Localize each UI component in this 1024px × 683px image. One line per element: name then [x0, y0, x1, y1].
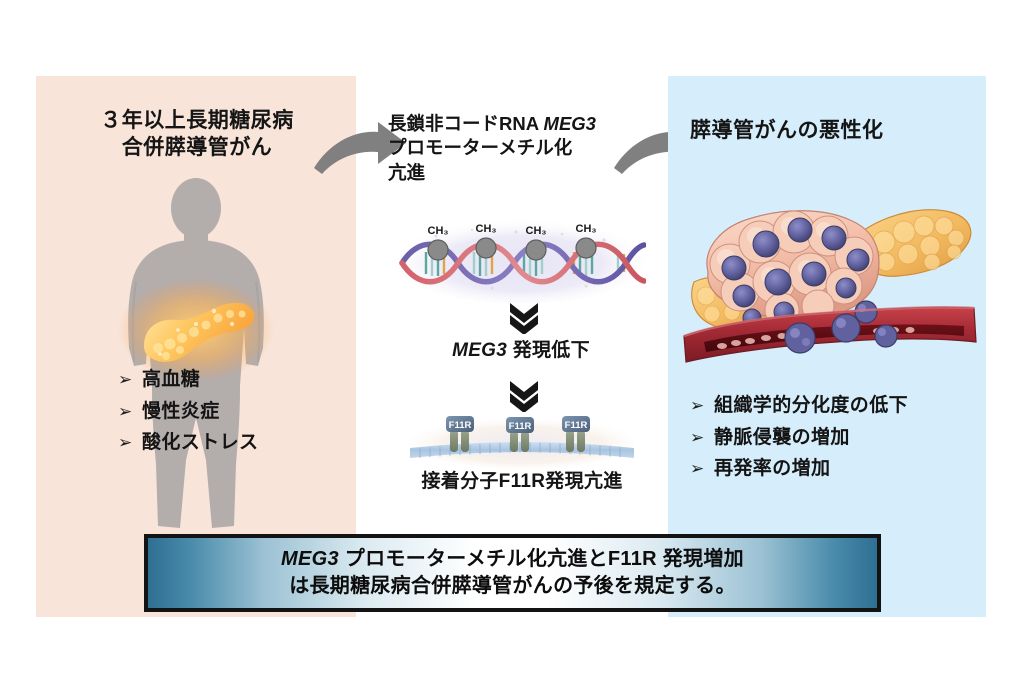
list-item: ➢ 慢性炎症 — [118, 398, 258, 426]
methyl-label: CH₃ — [526, 225, 547, 237]
bullet-arrow-icon: ➢ — [118, 431, 142, 457]
human-body-pancreas-silhouette — [96, 178, 296, 538]
center-heading-gene-name: MEG3 — [544, 113, 596, 134]
methyl-label: CH₃ — [428, 225, 449, 237]
figure-canvas: ３年以上長期糖尿病 合併膵導管がん ➢ 高血糖 ➢ 慢性炎症 ➢ 酸化ストレス … — [0, 0, 1024, 683]
bullet-arrow-icon: ➢ — [118, 400, 142, 426]
bullet-arrow-icon: ➢ — [690, 394, 714, 420]
list-item: ➢ 酸化ストレス — [118, 429, 258, 457]
center-heading-line3: 亢進 — [388, 162, 425, 183]
right-panel-bullet-list: ➢ 組織学的分化度の低下 ➢ 静脈侵襲の増加 ➢ 再発率の増加 — [690, 392, 908, 487]
list-item: ➢ 組織学的分化度の低下 — [690, 392, 908, 420]
chevron-down-icon-1 — [494, 300, 554, 339]
list-item-label: 再発率の増加 — [714, 455, 830, 483]
bullet-arrow-icon: ➢ — [118, 368, 142, 394]
list-item-label: 酸化ストレス — [142, 429, 258, 457]
f11r-protein-label: F11R — [449, 420, 472, 431]
list-item-label: 静脈侵襲の増加 — [714, 424, 850, 452]
banner-line2: は長期糖尿病合併膵導管がんの予後を規定する。 — [289, 575, 736, 597]
bullet-arrow-icon: ➢ — [690, 457, 714, 483]
center-heading-line2: プロモーターメチル化 — [388, 137, 572, 158]
f11r-membrane-illustration: F11R F11R F11R — [406, 408, 638, 468]
banner-gene-name: MEG3 — [281, 548, 339, 570]
conclusion-banner: MEG3 プロモーターメチル化亢進とF11R 発現増加 は長期糖尿病合併膵導管が… — [144, 534, 881, 612]
bullet-arrow-icon: ➢ — [690, 426, 714, 452]
meg3-gene-name: MEG3 — [452, 340, 507, 361]
list-item-label: 高血糖 — [142, 366, 200, 394]
list-item-label: 組織学的分化度の低下 — [714, 392, 908, 420]
conclusion-banner-text: MEG3 プロモーターメチル化亢進とF11R 発現増加 は長期糖尿病合併膵導管が… — [281, 546, 744, 600]
list-item-label: 慢性炎症 — [142, 398, 220, 426]
f11r-protein-label: F11R — [565, 420, 588, 431]
meg3-expression-text: MEG3 発現低下 — [396, 335, 646, 362]
banner-line1-rest: プロモーターメチル化亢進とF11R 発現増加 — [339, 548, 744, 570]
list-item: ➢ 高血糖 — [118, 366, 258, 394]
methyl-label: CH₃ — [576, 223, 597, 235]
meg3-expression-rest: 発現低下 — [507, 340, 590, 361]
left-panel-heading: ３年以上長期糖尿病 合併膵導管がん — [52, 108, 342, 162]
list-item: ➢ 静脈侵襲の増加 — [690, 424, 908, 452]
f11r-expression-caption: 接着分子F11R発現亢進 — [386, 466, 658, 493]
methyl-label: CH₃ — [476, 223, 497, 235]
right-panel-heading: 膵導管がんの悪性化 — [690, 118, 980, 145]
dna-methylation-illustration: CH₃ CH₃ CH₃ CH₃ — [396, 212, 646, 304]
center-heading-line1-pre: 長鎖非コードRNA — [388, 113, 544, 134]
left-panel-bullet-list: ➢ 高血糖 ➢ 慢性炎症 ➢ 酸化ストレス — [118, 366, 258, 461]
list-item: ➢ 再発率の増加 — [690, 455, 908, 483]
f11r-protein-label: F11R — [509, 421, 532, 432]
pancreatic-tumor-vein-invasion — [678, 186, 980, 372]
